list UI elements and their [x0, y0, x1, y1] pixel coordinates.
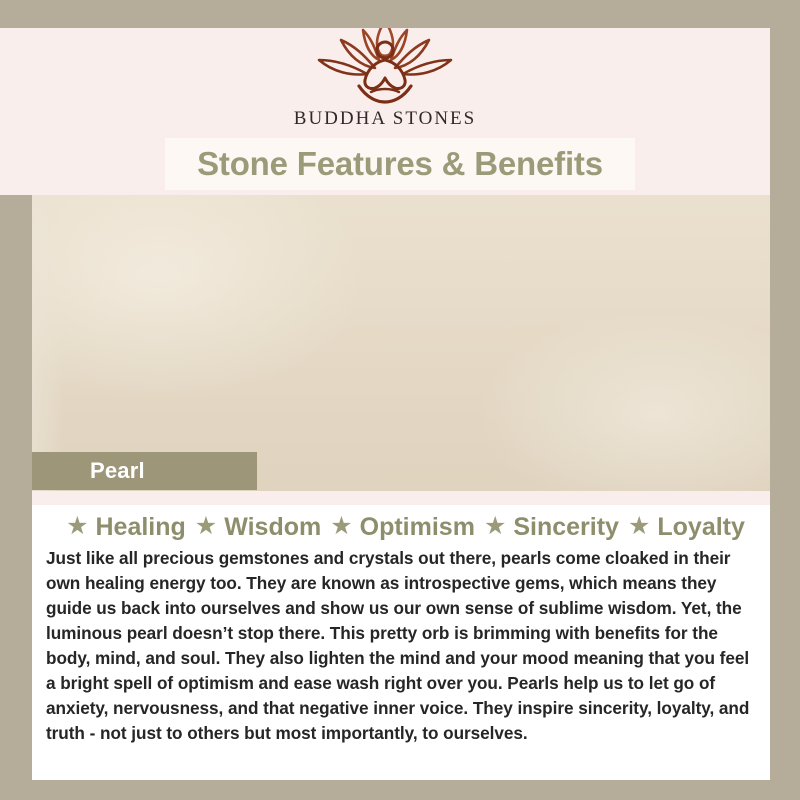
star-icon: ★ [628, 514, 650, 539]
frame-top-strip [0, 0, 800, 28]
brand-name: BUDDHA STONES [0, 108, 770, 130]
stone-description-text: Just like all precious gemstones and cry… [32, 544, 770, 746]
brand-logo: BUDDHA STONES [0, 14, 770, 130]
benefit-keyword-label: Optimism [360, 513, 475, 542]
benefit-keyword-label: Sincerity [513, 513, 619, 542]
benefit-keyword-label: Healing [96, 513, 186, 542]
benefit-keyword-label: Loyalty [657, 513, 745, 542]
frame-right-strip [770, 0, 800, 800]
star-icon: ★ [330, 514, 352, 539]
photo-lighting-overlay [18, 195, 800, 491]
poster-canvas: BUDDHA STONES Stone Features & Benefits … [0, 0, 800, 800]
benefit-keyword-loyalty: ★ Loyalty [619, 513, 745, 542]
stone-name-badge: Pearl [32, 452, 257, 490]
star-icon: ★ [195, 514, 217, 539]
benefit-keyword-label: Wisdom [224, 513, 321, 542]
benefit-keyword-wisdom: ★ Wisdom [186, 513, 321, 542]
stone-name-label: Pearl [90, 458, 145, 484]
benefit-keywords-row: ★ Healing ★ Wisdom ★ Optimism ★ Sincerit… [32, 505, 770, 544]
benefit-keyword-healing: ★ Healing [57, 513, 186, 542]
benefit-keyword-optimism: ★ Optimism [321, 513, 475, 542]
pearl-gemstones-photo [18, 195, 800, 491]
frame-left-strip [0, 195, 32, 800]
benefit-keyword-sincerity: ★ Sincerity [475, 513, 619, 542]
star-icon: ★ [66, 514, 88, 539]
page-title: Stone Features & Benefits [197, 145, 603, 183]
star-icon: ★ [484, 514, 506, 539]
benefits-card: ★ Healing ★ Wisdom ★ Optimism ★ Sincerit… [32, 505, 770, 780]
page-title-banner: Stone Features & Benefits [165, 138, 635, 190]
